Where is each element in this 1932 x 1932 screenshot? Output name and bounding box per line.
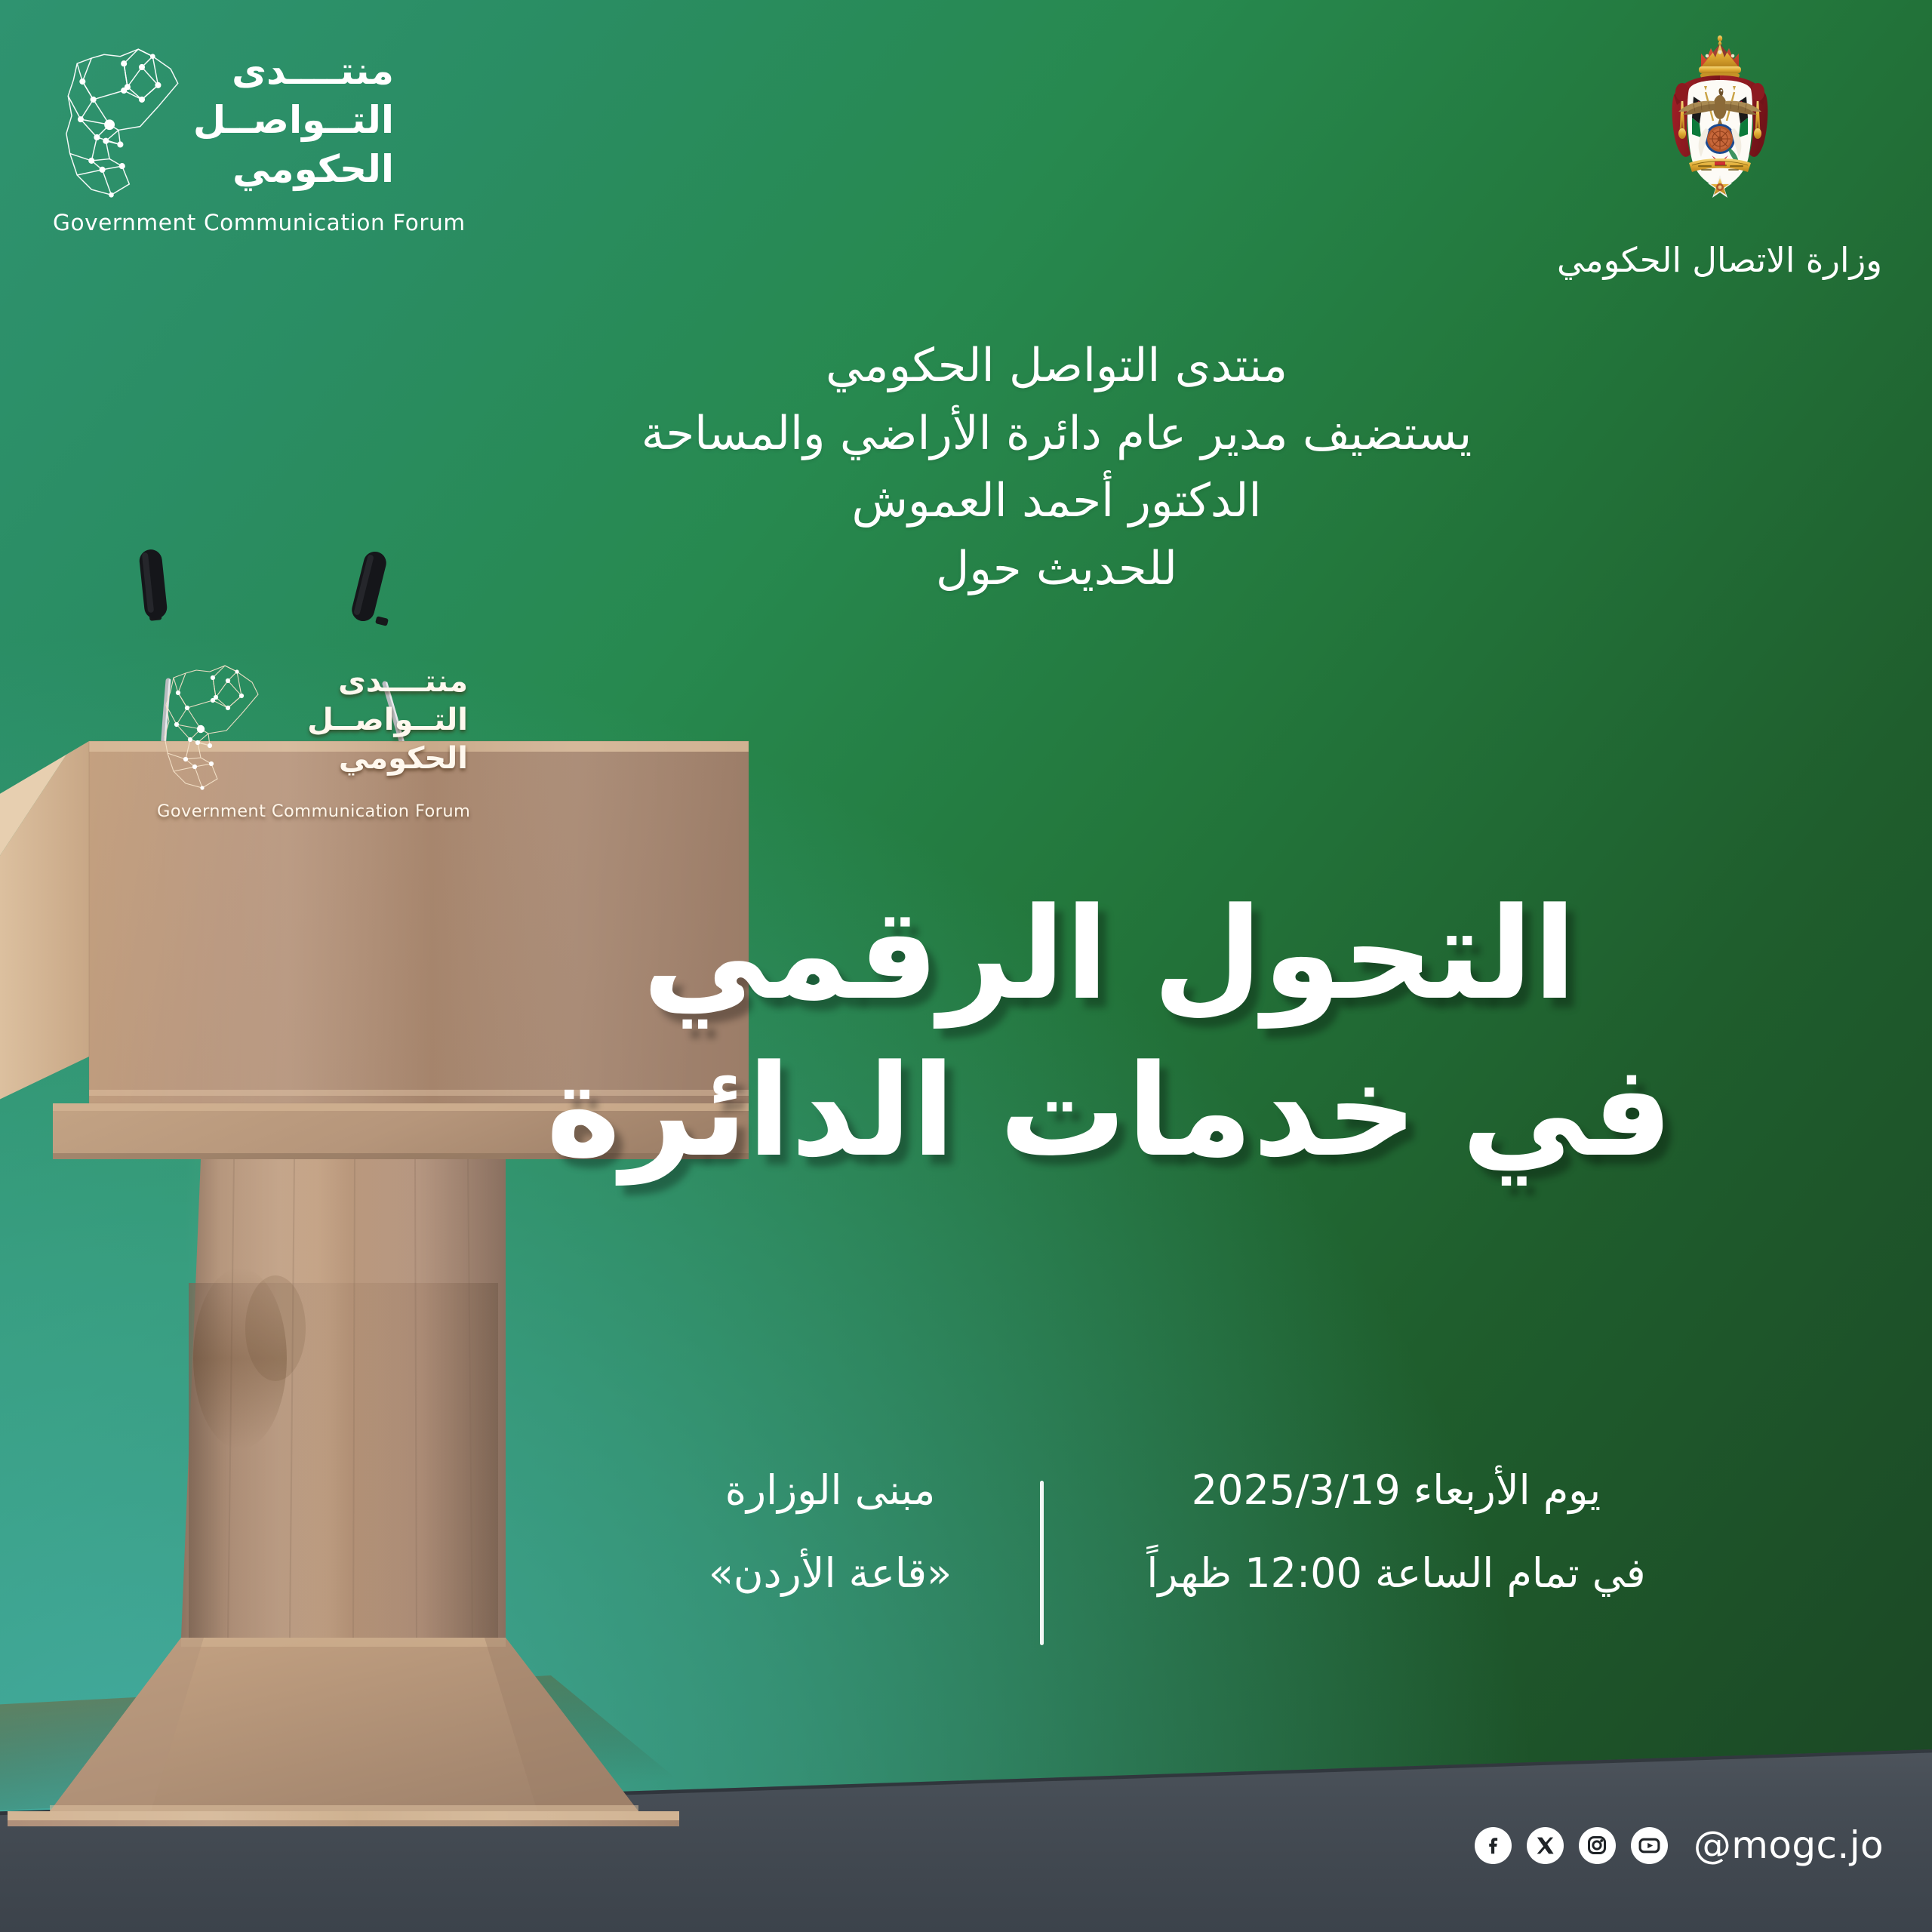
- podium-logo-line-3: الحكومي: [279, 740, 468, 778]
- intro-line-2: يستضيف مدير عام دائرة الأراضي والمساحة: [408, 400, 1706, 468]
- event-title-line-1: التحول الرقمي: [392, 875, 1826, 1032]
- event-title-line-2: في خدمات الدائرة: [392, 1032, 1826, 1189]
- podium-logo-line-1: منتــــدى: [279, 663, 468, 701]
- podium-logo: منتــــدى التــواصــل الحكومي Government…: [152, 661, 507, 835]
- x-twitter-icon[interactable]: [1527, 1827, 1564, 1864]
- event-datetime: يوم الأربعاء 2025/3/19 في تمام الساعة 12…: [1049, 1464, 1743, 1600]
- event-title: التحول الرقمي في خدمات الدائرة: [392, 875, 1826, 1190]
- podium-logo-line-2: التــواصــل: [279, 701, 468, 740]
- event-location: مبنى الوزارة «قاعة الأردن»: [626, 1464, 1034, 1600]
- forum-brand-line-3: الحكومي: [189, 145, 394, 194]
- intro-text-block: منتدى التواصل الحكومي يستضيف مدير عام دا…: [408, 332, 1706, 603]
- youtube-icon[interactable]: [1631, 1827, 1668, 1864]
- forum-brand-line-2: التــواصــل: [189, 96, 394, 145]
- social-bar: @mogc.jo: [1475, 1823, 1884, 1867]
- ministry-emblem-block: وزارة الاتصال الحكومي: [1558, 33, 1882, 280]
- event-venue-hall: «قاعة الأردن»: [626, 1547, 1034, 1600]
- forum-brand-line-1: منتــــدى: [189, 47, 394, 96]
- ministry-name: وزارة الاتصال الحكومي: [1558, 240, 1882, 280]
- intro-line-1: منتدى التواصل الحكومي: [408, 332, 1706, 400]
- forum-brand-arabic: منتــــدى التــواصــل الحكومي: [189, 47, 394, 194]
- jordan-network-map-icon: [47, 44, 190, 198]
- poster-canvas: منتــــدى التــواصــل الحكومي Government…: [0, 0, 1932, 1932]
- facebook-icon[interactable]: [1475, 1827, 1512, 1864]
- forum-brand-logo: منتــــدى التــواصــل الحكومي Government…: [47, 42, 401, 284]
- instagram-icon[interactable]: [1579, 1827, 1616, 1864]
- event-venue-building: مبنى الوزارة: [626, 1464, 1034, 1517]
- event-date: يوم الأربعاء 2025/3/19: [1049, 1464, 1743, 1517]
- intro-line-4: للحديث حول: [408, 535, 1706, 603]
- details-divider: [1040, 1481, 1044, 1645]
- jordan-coat-of-arms-icon: [1648, 33, 1792, 228]
- jordan-network-map-icon: [152, 661, 264, 791]
- social-handle[interactable]: @mogc.jo: [1694, 1823, 1884, 1867]
- podium-logo-arabic: منتــــدى التــواصــل الحكومي: [279, 663, 468, 779]
- event-time: في تمام الساعة 12:00 ظهراً: [1049, 1547, 1743, 1600]
- podium-logo-english: Government Communication Forum: [157, 801, 504, 821]
- event-details: يوم الأربعاء 2025/3/19 في تمام الساعة 12…: [626, 1464, 1743, 1660]
- intro-line-3: الدكتور أحمد العموش: [408, 467, 1706, 535]
- forum-brand-english: Government Communication Forum: [53, 210, 400, 235]
